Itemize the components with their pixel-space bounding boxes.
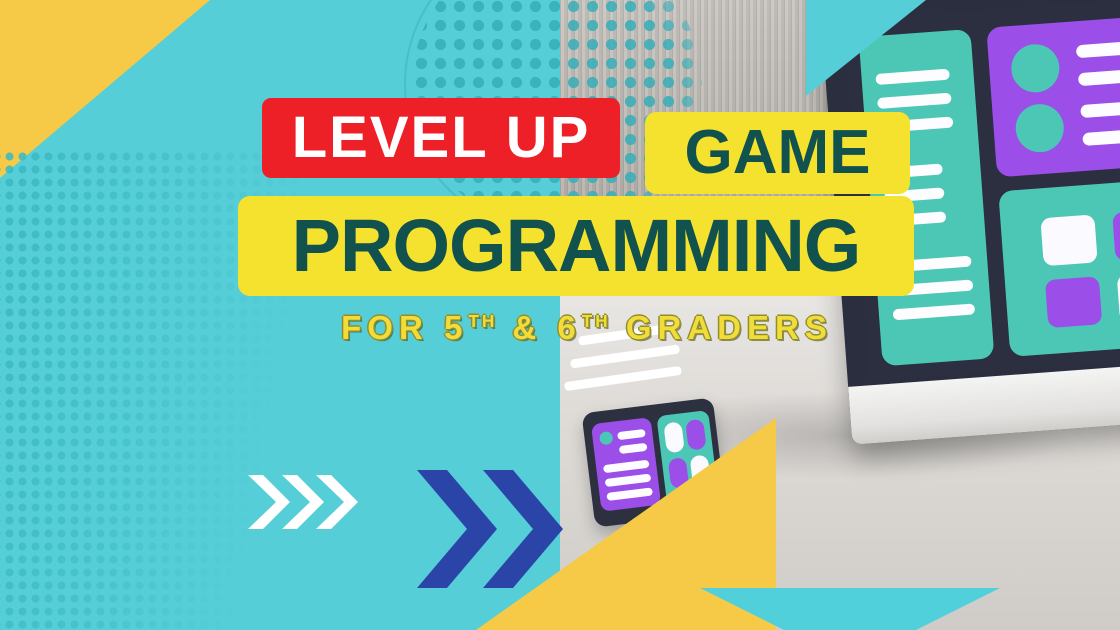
app-tile <box>685 419 707 451</box>
text-bar <box>1078 55 1120 86</box>
screen-teal-tile-card <box>998 164 1120 357</box>
subtitle-grade-1: 5 <box>444 309 468 346</box>
subtitle-grade-2-ordinal: TH <box>582 311 611 331</box>
tablet-purple-card <box>591 417 661 512</box>
text-bar <box>617 429 646 440</box>
text-bar <box>1082 115 1120 146</box>
chevron-blue-2-icon <box>481 468 563 590</box>
text-bar <box>619 443 648 454</box>
text-bar <box>877 93 952 109</box>
text-bar <box>605 474 652 488</box>
subtitle-grade-2: 6 <box>557 309 581 346</box>
subtitle: FOR 5TH & 6TH GRADERS <box>262 306 912 348</box>
programming-highlight-box: PROGRAMMING <box>238 196 914 296</box>
text-bar <box>606 487 653 501</box>
app-tile <box>1112 209 1120 261</box>
text-bar <box>1076 27 1120 58</box>
app-tile <box>663 421 685 453</box>
subtitle-conjunction: & <box>512 309 542 346</box>
game-highlight-box: GAME <box>645 112 910 194</box>
level-up-label: LEVEL UP <box>292 109 591 167</box>
app-tile <box>1040 214 1097 266</box>
headline-word-programming: PROGRAMMING <box>292 209 861 283</box>
headline-word-game: GAME <box>685 122 871 184</box>
avatar-icon <box>1010 43 1061 94</box>
app-tile <box>1045 276 1102 328</box>
subtitle-prefix: FOR <box>341 309 429 346</box>
chevron-white-3-icon <box>314 473 358 531</box>
avatar-dot-icon <box>599 431 613 445</box>
promo-banner: LEVEL UP GAME PROGRAMMING FOR 5TH & 6TH … <box>0 0 1120 630</box>
text-bar <box>603 460 650 474</box>
subtitle-label: FOR 5TH & 6TH GRADERS <box>341 311 833 344</box>
text-bar <box>875 69 950 85</box>
level-up-badge: LEVEL UP <box>262 98 620 178</box>
subtitle-grade-1-ordinal: TH <box>468 311 497 331</box>
subtitle-suffix: GRADERS <box>626 309 833 346</box>
avatar-icon <box>1014 102 1065 153</box>
screen-purple-profile-card <box>986 1 1120 178</box>
text-bar <box>1080 87 1120 118</box>
